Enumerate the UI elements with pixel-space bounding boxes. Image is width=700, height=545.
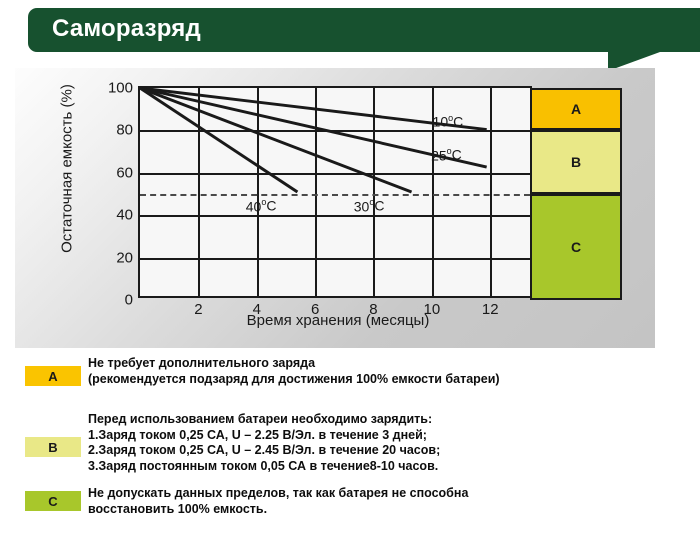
chart-y-axis-label: Остаточная емкость (%) (59, 74, 76, 264)
chart-plot-area: 020406080100 24681012 10oC25oC30oC40oC A… (138, 86, 532, 298)
legend-line: 1.Заряд током 0,25 СА, U – 2.25 В/Эл. в … (88, 428, 440, 444)
x-tick-label: 4 (253, 301, 261, 318)
chart-series-lines (140, 88, 530, 296)
legend-line: Не допускать данных пределов, так как ба… (88, 486, 468, 502)
legend-line: Перед использованием батареи необходимо … (88, 412, 440, 428)
series-label-40: 40oC (246, 197, 277, 214)
x-tick-label: 6 (311, 301, 319, 318)
legend-line: (рекомендуется подзаряд для достижения 1… (88, 372, 500, 388)
y-tick-label: 40 (116, 207, 133, 224)
zone-bar-A: A (530, 88, 622, 130)
series-label-25: 25oC (431, 146, 462, 163)
legend-text-B: Перед использованием батареи необходимо … (88, 412, 440, 474)
x-tick-label: 8 (369, 301, 377, 318)
y-tick-label: 0 (125, 292, 133, 309)
legend-line: Не требует дополнительного заряда (88, 356, 500, 372)
legend-chip-A: A (25, 366, 81, 386)
x-tick-label: 12 (482, 301, 499, 318)
legend-text-A: Не требует дополнительного заряда(рекоме… (88, 356, 500, 387)
series-label-30: 30oC (354, 197, 385, 214)
zone-bar-C: C (530, 194, 622, 300)
legend-line: 3.Заряд постоянным током 0,05 СА в течен… (88, 459, 440, 475)
y-tick-label: 60 (116, 164, 133, 181)
legend-chip-C: C (25, 491, 81, 511)
y-tick-label: 20 (116, 249, 133, 266)
y-tick-label: 100 (108, 80, 133, 97)
x-tick-label: 10 (424, 301, 441, 318)
legend-text-C: Не допускать данных пределов, так как ба… (88, 486, 468, 517)
header-banner: Саморазряд (0, 8, 700, 66)
y-tick-label: 80 (116, 122, 133, 139)
chart-panel: Остаточная емкость (%) Время хранения (м… (15, 68, 655, 348)
legend-line: восстановить 100% емкость. (88, 502, 468, 518)
legend-line: 2.Заряд током 0,25 СА, U – 2.45 В/Эл. в … (88, 443, 440, 459)
page-title: Саморазряд (52, 15, 201, 43)
slide-root: Саморазряд Остаточная емкость (%) Время … (0, 0, 700, 545)
zone-bar-B: B (530, 130, 622, 194)
legend-chip-B: B (25, 437, 81, 457)
x-tick-label: 2 (194, 301, 202, 318)
series-label-10: 10oC (433, 113, 464, 130)
chart-zone-bars: ABC (530, 86, 622, 298)
